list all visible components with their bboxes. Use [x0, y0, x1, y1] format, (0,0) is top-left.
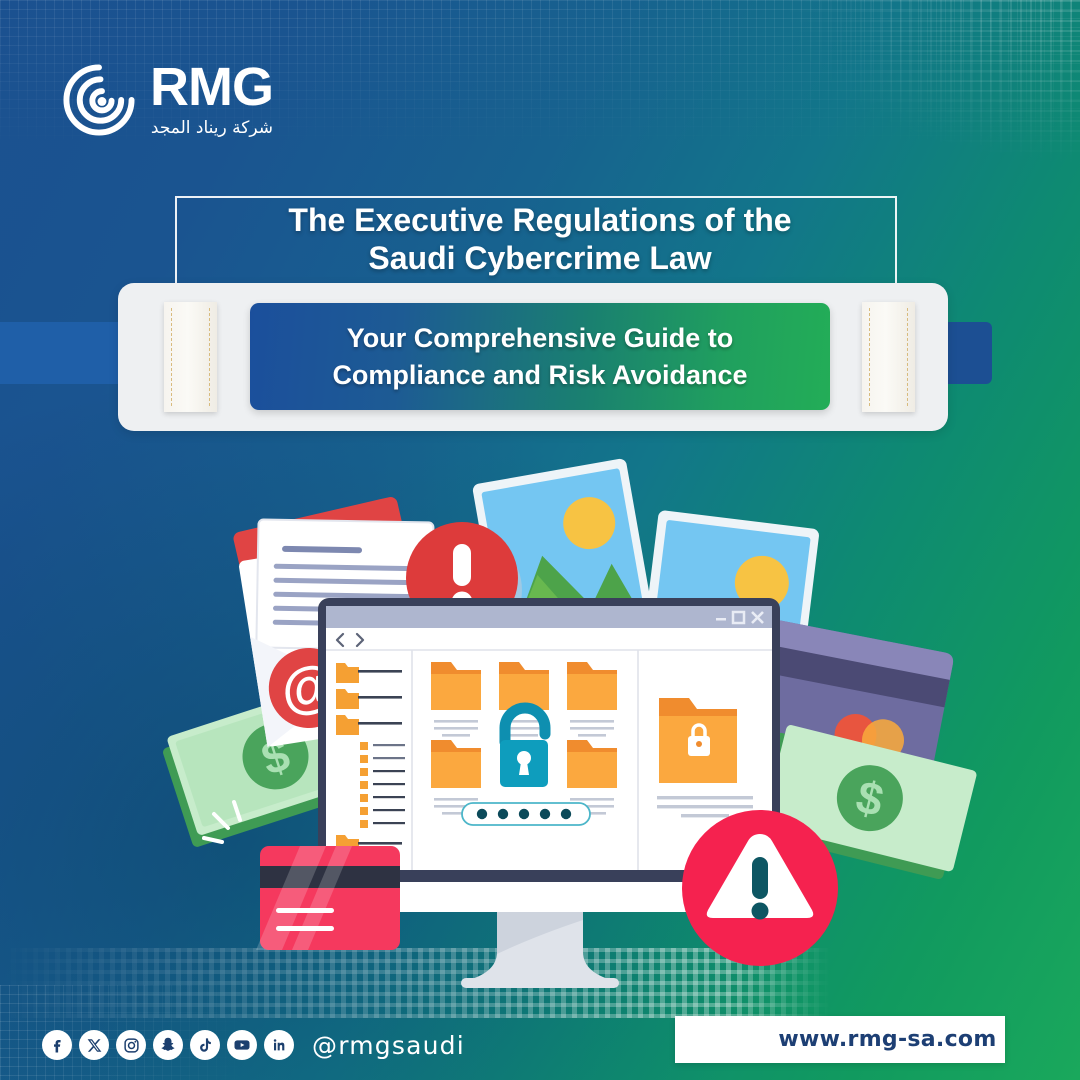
plate-tab-right — [862, 302, 915, 412]
instagram-icon[interactable] — [116, 1030, 146, 1060]
subtitle-line2: Compliance and Risk Avoidance — [332, 357, 747, 393]
youtube-icon[interactable] — [227, 1030, 257, 1060]
linkedin-icon[interactable] — [264, 1030, 294, 1060]
page-title-line1: The Executive Regulations of the — [150, 202, 930, 240]
poster-canvas: RMG شركة ريناد المجد The Executive Regul… — [0, 0, 1080, 1080]
website-url: www.rmg-sa.com — [683, 1027, 996, 1052]
footer: @rmgsaudi www.rmg-sa.com — [0, 998, 1080, 1080]
subtitle-text: Your Comprehensive Guide to Compliance a… — [320, 320, 759, 393]
x-twitter-icon[interactable] — [79, 1030, 109, 1060]
social-handle: @rmgsaudi — [312, 1031, 465, 1060]
page-title: The Executive Regulations of the Saudi C… — [150, 202, 930, 278]
minimize-icon[interactable] — [716, 618, 726, 621]
password-input[interactable] — [462, 803, 590, 825]
snapchat-icon[interactable] — [153, 1030, 183, 1060]
page-title-line2: Saudi Cybercrime Law — [150, 240, 930, 278]
brand-logo-text: RMG شركة ريناد المجد — [150, 62, 273, 138]
facebook-icon[interactable] — [42, 1030, 72, 1060]
subtitle-banner: Your Comprehensive Guide to Compliance a… — [250, 303, 830, 410]
rmg-spiral-icon — [62, 63, 136, 137]
pink-credit-card — [256, 846, 400, 950]
website-badge[interactable]: www.rmg-sa.com — [675, 1016, 1005, 1063]
subtitle-line1: Your Comprehensive Guide to — [332, 320, 747, 356]
social-links[interactable]: @rmgsaudi — [42, 1030, 465, 1060]
brand-logo: RMG شركة ريناد المجد — [62, 62, 273, 138]
plate-tab-left — [164, 302, 217, 412]
red-warning-triangle-icon — [682, 810, 838, 966]
tiktok-icon[interactable] — [190, 1030, 220, 1060]
hero-illustration: $ — [0, 430, 1080, 1000]
brand-name-arabic: شركة ريناد المجد — [150, 118, 273, 138]
illustration-svg: $ — [0, 430, 1080, 1000]
brand-name: RMG — [150, 62, 273, 113]
